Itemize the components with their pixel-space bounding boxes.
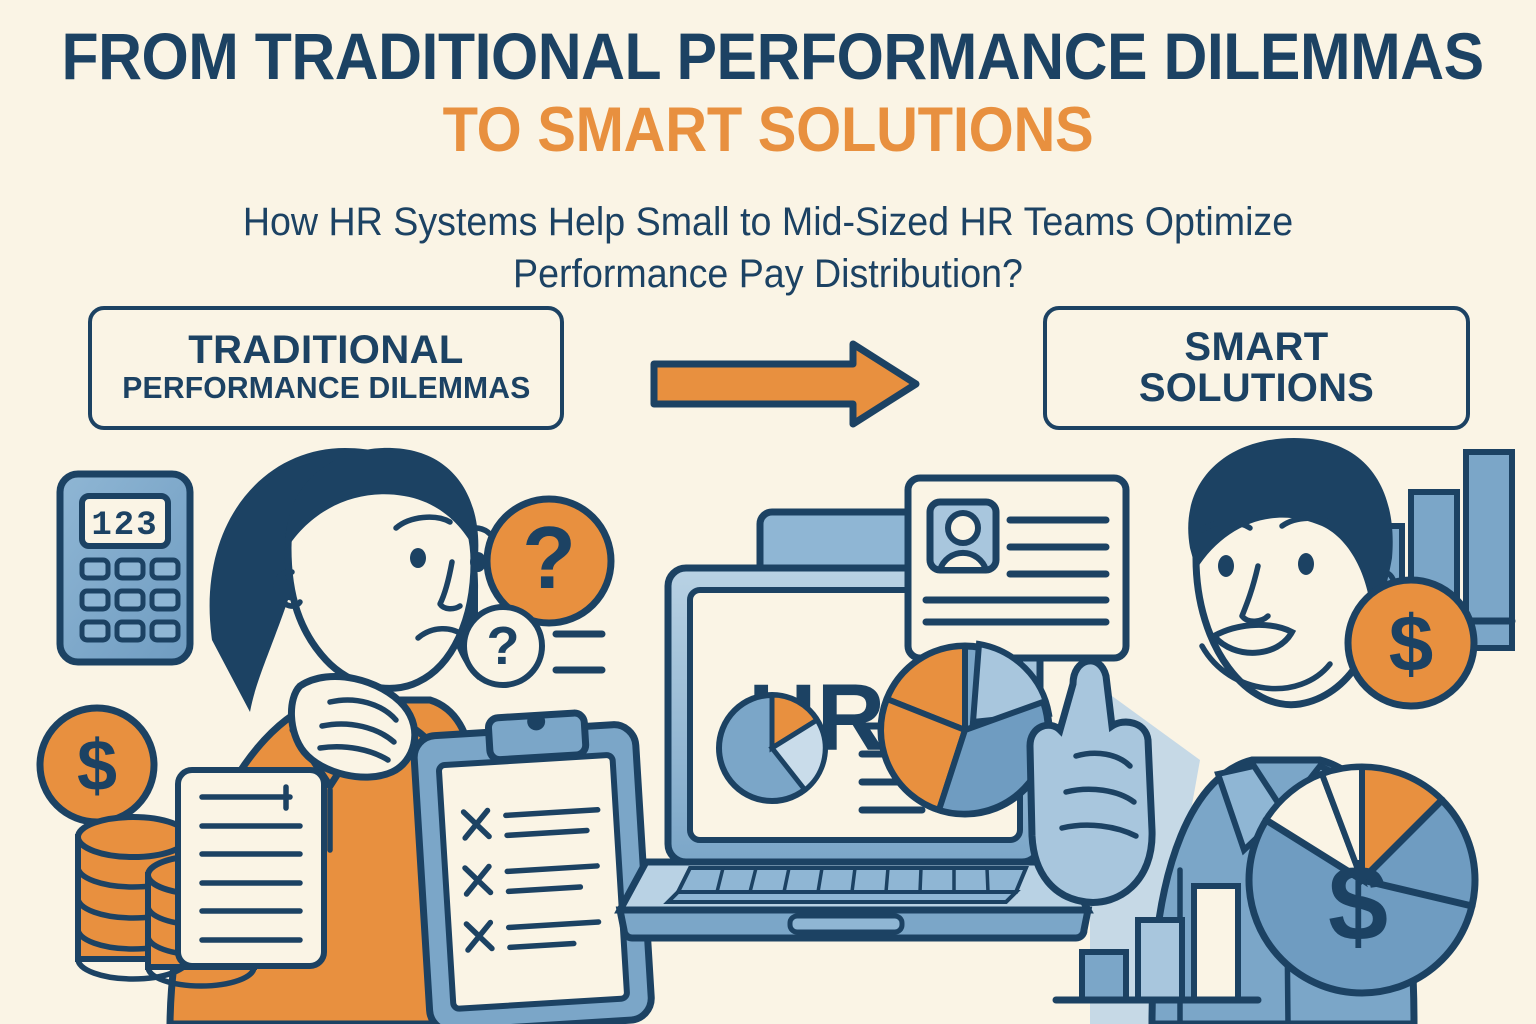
arrow-right-icon <box>654 344 916 424</box>
hand-shape <box>1030 661 1152 903</box>
question-glyph-large: ? <box>522 508 576 607</box>
money-pie-chart: $ <box>1249 767 1475 993</box>
clipboard <box>412 706 653 1024</box>
eye-left <box>1218 555 1234 577</box>
avatar-icon <box>930 502 996 570</box>
calculator-display-value: 123 <box>91 507 158 545</box>
bar <box>1194 886 1238 1000</box>
dash-lines-left <box>556 634 602 670</box>
employee-record-card <box>908 478 1126 658</box>
laptop-trackpad <box>790 916 902 932</box>
chip-left-line-1: TRADITIONAL <box>188 330 463 372</box>
dollar-glyph: $ <box>77 726 117 806</box>
chip-right-line-1: SMART <box>1184 327 1328 368</box>
dollar-glyph: $ <box>1389 599 1434 688</box>
chip-smart-solutions[interactable]: SMART SOLUTIONS <box>1043 306 1470 430</box>
laptop-keyboard <box>668 868 1026 902</box>
subtitle-line-1: How HR Systems Help Small to Mid-Sized H… <box>46 196 1490 248</box>
question-glyph-small: ? <box>487 616 520 676</box>
infographic-canvas: FROM TRADITIONAL PERFORMANCE DILEMMAS TO… <box>0 0 1536 1024</box>
dollar-coin-badge-right: $ <box>1348 580 1474 706</box>
center-pie-chart <box>881 644 1049 814</box>
chip-left-line-2: PERFORMANCE DILEMMAS <box>122 371 530 406</box>
bar <box>1082 952 1126 1000</box>
illustration-scene: 123 $ <box>0 430 1536 1024</box>
calculator-icon: 123 <box>60 474 190 662</box>
eye-right <box>1298 553 1314 575</box>
eye-left <box>410 548 426 568</box>
chip-traditional-dilemmas[interactable]: TRADITIONAL PERFORMANCE DILEMMAS <box>88 306 564 430</box>
chip-right-line-2: SOLUTIONS <box>1139 368 1374 410</box>
bar <box>1138 920 1182 1000</box>
dollar-coin-badge-left: $ <box>40 708 154 822</box>
headline-block: FROM TRADITIONAL PERFORMANCE DILEMMAS TO… <box>0 22 1536 165</box>
subtitle-block: How HR Systems Help Small to Mid-Sized H… <box>0 196 1536 300</box>
question-mark-badge-small: ? <box>464 607 542 685</box>
pie-center-dollar-glyph: $ <box>1328 842 1388 963</box>
paper-document <box>178 770 324 966</box>
screen-pie-chart <box>719 695 825 801</box>
transition-arrow <box>650 338 920 430</box>
hand-pointing-up <box>1030 661 1152 903</box>
subtitle-line-2: Performance Pay Distribution? <box>46 248 1490 300</box>
headline-line-1: FROM TRADITIONAL PERFORMANCE DILEMMAS <box>61 22 1474 91</box>
headline-line-2: TO SMART SOLUTIONS <box>61 95 1474 166</box>
